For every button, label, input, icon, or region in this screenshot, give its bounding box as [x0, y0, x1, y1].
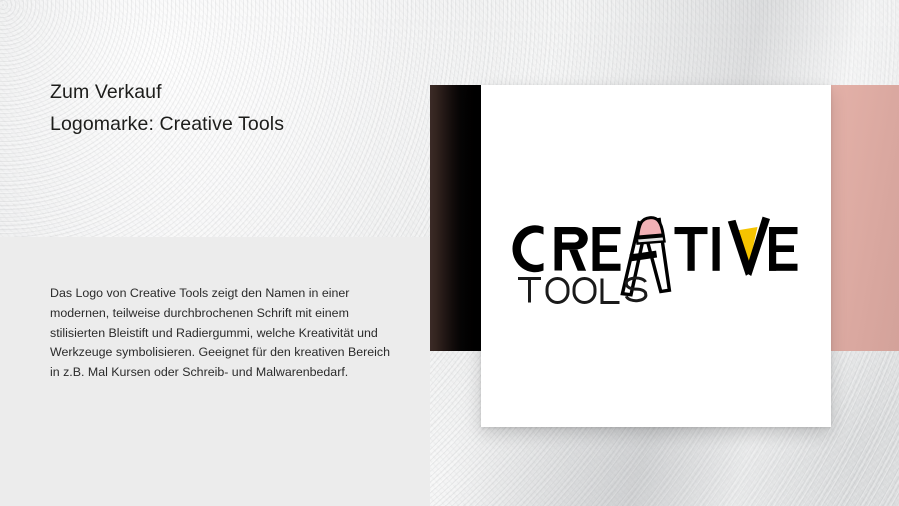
logo-letter-c [512, 225, 543, 272]
logo-letter-e1-mid [593, 245, 618, 252]
logo-letter-r-leg [569, 250, 586, 271]
page-title: Zum Verkauf Logomarke: Creative Tools [50, 76, 420, 140]
pencil-tip-icon [728, 217, 770, 276]
page-title-line-1: Zum Verkauf [50, 76, 420, 108]
description-paragraph: Das Logo von Creative Tools zeigt den Na… [50, 284, 398, 382]
tools-letter-o1 [547, 279, 568, 303]
logo-letter-e2-top [769, 227, 798, 234]
tools-letter-t [518, 279, 541, 303]
tools-letter-l [602, 279, 620, 303]
logo-card [481, 85, 831, 427]
slide-canvas: Zum Verkauf Logomarke: Creative Tools Da… [0, 0, 899, 506]
pencil-ferrule [637, 236, 665, 243]
logo-artwork [481, 208, 831, 308]
logo-letter-e1-bottom [593, 264, 621, 271]
creative-tools-logo-icon [506, 208, 806, 308]
logo-letter-e1-top [593, 227, 621, 234]
pencil-with-eraser-icon [622, 218, 669, 295]
page-title-line-2: Logomarke: Creative Tools [50, 108, 420, 140]
logo-letter-t-stem [688, 227, 695, 271]
logo-letter-e2-mid [769, 245, 794, 252]
logo-letter-e2-bottom [769, 264, 798, 271]
logo-letter-i [713, 227, 720, 271]
tools-letter-o2 [574, 279, 595, 303]
pencil-eraser [638, 218, 664, 237]
